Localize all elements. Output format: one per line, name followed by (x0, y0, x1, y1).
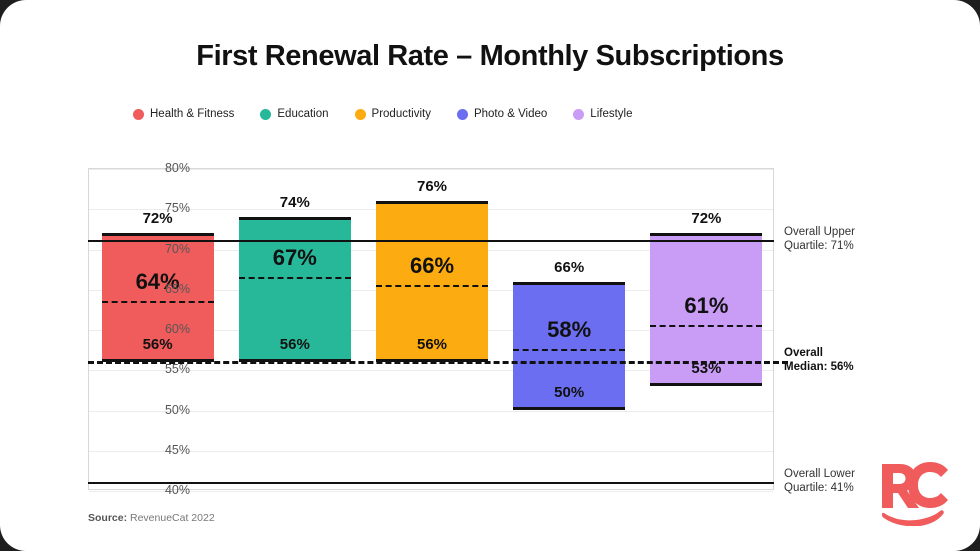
bar-median-line (239, 277, 351, 279)
legend-label: Health & Fitness (150, 108, 234, 120)
source-note: Source: RevenueCat 2022 (88, 512, 215, 524)
bar-median-line (376, 285, 488, 287)
reference-line (88, 361, 788, 364)
chart-bar[interactable]: 66%58%50% (513, 282, 625, 411)
bar-median-value-label: 61% (650, 293, 762, 319)
gridline (89, 451, 773, 452)
source-value: RevenueCat 2022 (127, 512, 215, 524)
legend-swatch-icon (573, 109, 584, 120)
reference-line-label: Overall LowerQuartile: 41% (784, 467, 855, 495)
bar-median-value-label: 66% (376, 253, 488, 279)
bar-upper-value-label: 76% (376, 178, 488, 195)
reference-line-label-line1: Overall (784, 346, 854, 360)
reference-line-label-line2: Quartile: 71% (784, 239, 855, 253)
chart-plot-area: 72%64%56%74%67%56%76%66%56%66%58%50%72%6… (88, 168, 774, 490)
legend-item[interactable]: Productivity (355, 108, 431, 120)
bar-median-value-label: 67% (239, 245, 351, 271)
y-axis-tick-label: 70% (130, 242, 190, 256)
reference-line-label: Overall UpperQuartile: 71% (784, 225, 855, 253)
chart-legend: Health & FitnessEducationProductivityPho… (133, 108, 632, 120)
source-label: Source: (88, 512, 127, 524)
page-title: First Renewal Rate – Monthly Subscriptio… (0, 40, 980, 73)
legend-label: Lifestyle (590, 108, 632, 120)
legend-item[interactable]: Education (260, 108, 328, 120)
bar-upper-value-label: 66% (513, 259, 625, 276)
y-axis-tick-label: 55% (130, 362, 190, 376)
y-axis-tick-label: 60% (130, 322, 190, 336)
y-axis-tick-label: 40% (130, 483, 190, 497)
chart-card: First Renewal Rate – Monthly Subscriptio… (0, 0, 980, 551)
bar-median-value-label: 58% (513, 317, 625, 343)
legend-item[interactable]: Health & Fitness (133, 108, 234, 120)
reference-line-label-line1: Overall Upper (784, 225, 855, 239)
y-axis-tick-label: 45% (130, 443, 190, 457)
reference-line-label-line1: Overall Lower (784, 467, 855, 481)
bar-median-line (650, 325, 762, 327)
legend-swatch-icon (133, 109, 144, 120)
reference-line (88, 240, 774, 242)
bar-median-line (513, 349, 625, 351)
bar-lower-value-label: 56% (376, 336, 488, 353)
bar-median-line (102, 301, 214, 303)
legend-label: Productivity (372, 108, 431, 120)
legend-item[interactable]: Photo & Video (457, 108, 547, 120)
y-axis-tick-label: 50% (130, 403, 190, 417)
reference-line-label-line2: Median: 56% (784, 360, 854, 374)
reference-line-label-line2: Quartile: 41% (784, 481, 855, 495)
bar-lower-value-label: 56% (102, 336, 214, 353)
chart-bar[interactable]: 74%67%56% (239, 217, 351, 362)
reference-line (88, 482, 774, 484)
legend-swatch-icon (457, 109, 468, 120)
revenuecat-logo (878, 460, 954, 526)
y-axis-tick-label: 75% (130, 201, 190, 215)
y-axis-tick-label: 65% (130, 282, 190, 296)
legend-swatch-icon (355, 109, 366, 120)
legend-swatch-icon (260, 109, 271, 120)
bar-lower-value-label: 50% (513, 384, 625, 401)
gridline (89, 169, 773, 170)
gridline (89, 491, 773, 492)
bar-upper-value-label: 74% (239, 194, 351, 211)
legend-label: Photo & Video (474, 108, 547, 120)
legend-item[interactable]: Lifestyle (573, 108, 632, 120)
chart-bar[interactable]: 76%66%56% (376, 201, 488, 362)
y-axis-tick-label: 80% (130, 161, 190, 175)
bar-upper-value-label: 72% (650, 210, 762, 227)
bar-lower-value-label: 56% (239, 336, 351, 353)
reference-line-label: OverallMedian: 56% (784, 346, 854, 374)
legend-label: Education (277, 108, 328, 120)
gridline (89, 411, 773, 412)
